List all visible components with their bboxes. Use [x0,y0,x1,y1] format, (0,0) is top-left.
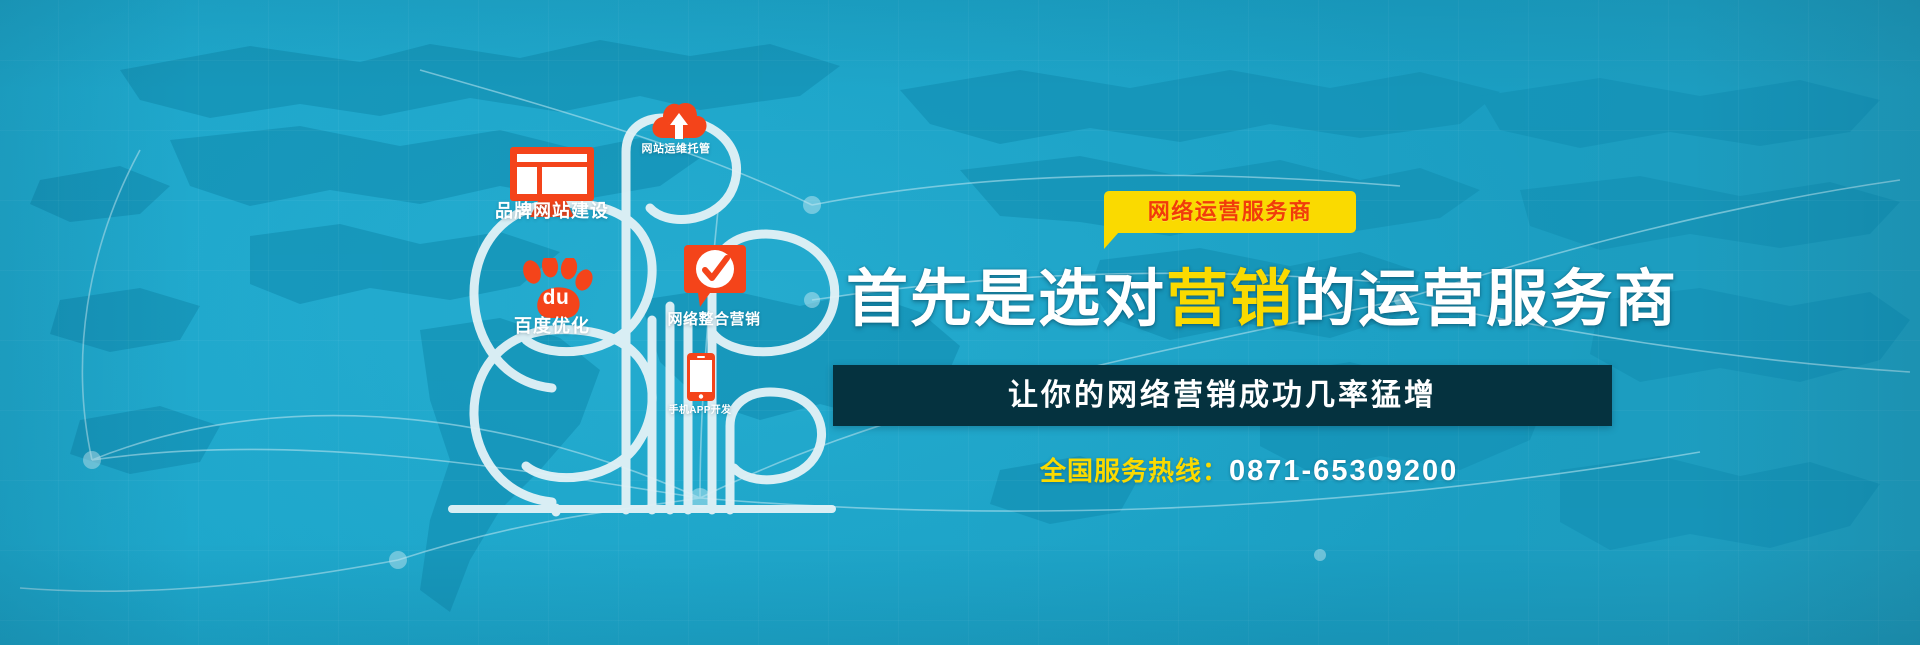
subtitle-bar: 让你的网络营销成功几率猛增 [833,365,1612,426]
service-badge-tail [1104,232,1119,249]
subtitle-label: 让你的网络营销成功几率猛增 [1008,381,1437,411]
headline: 首先是选对营销的运营服务商 [846,262,1606,338]
promo-banner: 品牌网站建设 网站运维托管 网络整合营销 du 百度优化 手机APP开发 网络运… [0,0,1920,645]
node-label-site-ops: 网站运维托管 [642,144,711,155]
hotline-number: 0871-65309200 [1229,455,1458,487]
service-tree-graphic [430,110,850,530]
node-label-integrated-marketing: 网络整合营销 [667,312,760,327]
hotline: 全国服务热线：0871-65309200 [1040,454,1458,488]
headline-part1: 首先是选对 [846,265,1166,334]
baidu-du-text: du [543,287,570,308]
node-label-app-dev: 手机APP开发 [669,406,732,416]
hotline-label: 全国服务热线： [1040,456,1229,486]
node-label-brand-site: 品牌网站建设 [495,202,609,220]
cloud-upload-icon [650,101,708,141]
headline-part2: 的运营服务商 [1294,265,1678,334]
service-badge: 网络运营服务商 [1104,191,1356,233]
headline-highlight: 营销 [1166,265,1294,334]
chat-check-icon [682,243,748,309]
service-badge-label: 网络运营服务商 [1148,201,1313,223]
node-label-baidu-seo: 百度优化 [514,317,590,335]
smartphone-icon [686,352,716,402]
